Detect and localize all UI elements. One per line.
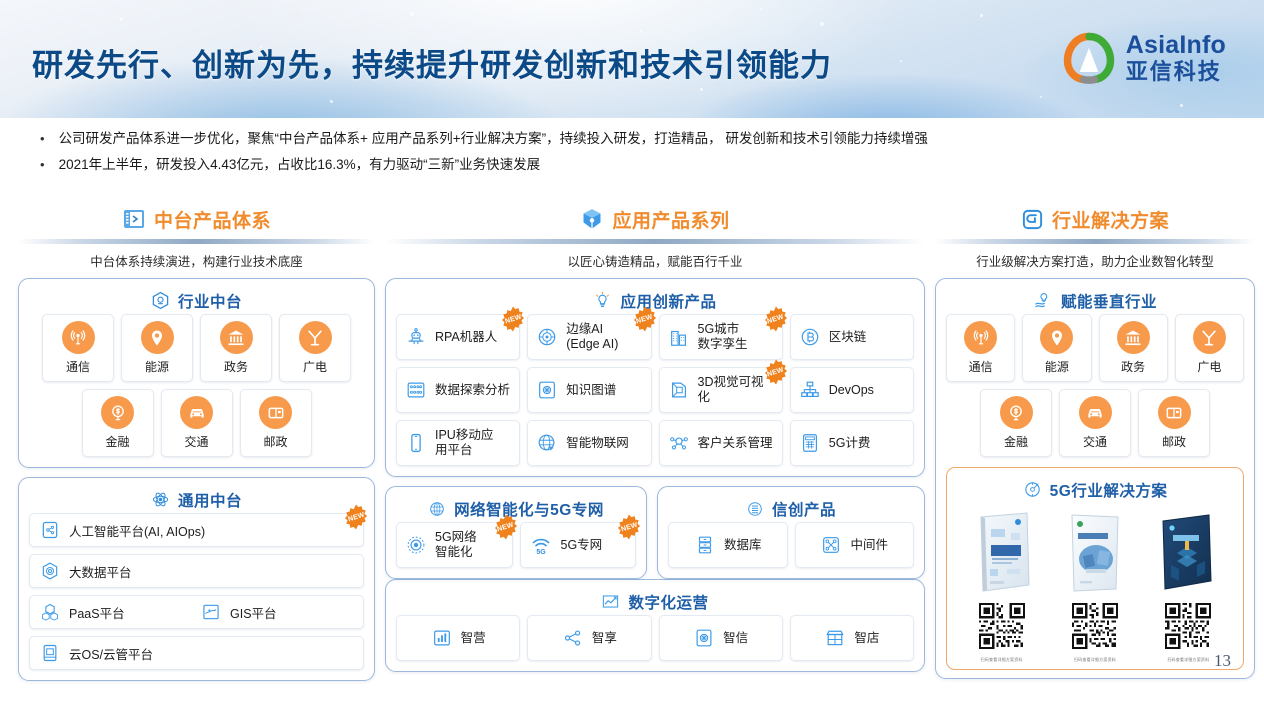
qr-caption: 扫码查看详细方案资料 <box>1056 657 1134 663</box>
card-5g-digital-twin[interactable]: 5G城市 数字孪生 NEW <box>659 314 783 360</box>
cube-icon <box>580 207 604 231</box>
column-middle-header: 应用产品系列 <box>385 205 925 233</box>
bar-chart-icon <box>431 627 453 649</box>
platform-label: GIS平台 <box>230 603 277 622</box>
vertical-tile-row-2: 金融 交通 邮政 <box>946 389 1244 457</box>
database-icon <box>694 534 716 556</box>
city-icon <box>668 326 690 348</box>
bullet-item: • 2021年上半年，研发投入4.43亿元，占收比16.3%，有力驱动“三新”业… <box>0 152 1264 178</box>
card-5g-billing[interactable]: 5G计费 <box>790 420 914 466</box>
card-knowledge-graph[interactable]: 知识图谱 <box>527 367 651 413</box>
tile-label: 通信 <box>969 358 993 375</box>
bullet-item: • 公司研发产品体系进一步优化，聚焦“中台产品体系+ 应用产品系列+行业解决方案… <box>0 126 1264 152</box>
tile-label: 能源 <box>145 358 169 375</box>
tile-telecom[interactable]: 通信 <box>946 314 1015 382</box>
ai-share-icon <box>40 520 60 540</box>
platform-label: 大数据平台 <box>69 562 132 581</box>
car-icon <box>180 396 213 429</box>
bullet-marker: • <box>40 155 45 175</box>
iot-globe-icon <box>536 432 558 454</box>
mailbox-icon <box>1158 396 1191 429</box>
brochure-1 <box>963 511 1041 595</box>
card-label: 智能物联网 <box>566 436 629 451</box>
card-zhixin[interactable]: 智信 <box>659 615 783 661</box>
bank-icon <box>220 321 253 354</box>
lightbulb-icon <box>593 291 612 310</box>
panel-xinchuang-header: 信创产品 <box>668 495 914 522</box>
platform-row-cloudos[interactable]: 云OS/云管平台 <box>29 636 364 670</box>
card-5g-private-network[interactable]: 5G 5G专网 NEW <box>520 522 637 568</box>
new-badge: NEW <box>500 306 526 332</box>
blockchain-icon <box>799 326 821 348</box>
card-edge-ai[interactable]: 边缘AI (Edge AI) NEW <box>527 314 651 360</box>
bullet-marker: • <box>40 129 45 149</box>
panel-innovation-products: 应用创新产品 RPA机器人 NEW <box>385 278 925 477</box>
column-right-header: 行业解决方案 <box>935 205 1255 233</box>
column-industry-solutions: 行业解决方案 行业级解决方案打造，助力企业数智化转型 赋能垂直行业 通信 <box>935 205 1255 679</box>
panel-industry-platform: 行业中台 通信 能源 政务 <box>18 278 375 468</box>
digital-grid: 智营 智享 智信 <box>396 615 914 661</box>
column-middle-subtitle: 以匠心铸造精品，赋能百行千业 <box>385 248 925 278</box>
car-icon <box>1079 396 1112 429</box>
location-pin-icon <box>141 321 174 354</box>
robot-icon <box>405 326 427 348</box>
column-middle-platform: 中台产品体系 中台体系持续演进，构建行业技术底座 行业中台 通信 <box>18 205 375 681</box>
globe-net-icon <box>428 500 446 518</box>
card-crm[interactable]: 客户关系管理 <box>659 420 783 466</box>
xinchuang-grid: 数据库 中间件 <box>668 522 914 568</box>
devops-icon <box>799 379 821 401</box>
bank-icon <box>1117 321 1150 354</box>
panel-5g-solutions: 5G行业解决方案 <box>946 467 1244 670</box>
empower-icon <box>1033 291 1053 311</box>
panel-digital-operations: 数字化运营 智营 智享 <box>385 579 925 672</box>
panel-industry-header: 行业中台 <box>29 287 364 314</box>
tile-telecom[interactable]: 通信 <box>42 314 114 382</box>
middleware-icon <box>820 534 842 556</box>
brochure-3 <box>1149 511 1227 595</box>
brochure-row <box>955 509 1235 595</box>
network-grid: 5G网络 智能化 NEW 5G 5G专网 NEW <box>396 522 636 568</box>
svg-text:5G: 5G <box>536 549 546 556</box>
qr-row: 扫码查看详细方案资料 扫码查看详细方案资料 <box>955 603 1235 663</box>
money-icon <box>1000 396 1033 429</box>
page-title: 研发先行、创新为先，持续提升研发创新和技术引领能力 <box>32 40 832 85</box>
platform-row-ai[interactable]: 人工智能平台(AI, AIOps) NEW <box>29 513 364 547</box>
tile-label: 通信 <box>66 358 90 375</box>
tile-postal[interactable]: 邮政 <box>1138 389 1210 457</box>
column-left-rule <box>18 239 375 244</box>
new-badge: NEW <box>763 306 789 332</box>
panel-network-title: 网络智能化与5G专网 <box>454 498 604 520</box>
signal-tower-icon <box>62 321 95 354</box>
5g-disc-icon <box>1023 480 1042 499</box>
card-ipu-mobile[interactable]: IPU移动应 用平台 <box>396 420 520 466</box>
mailbox-icon <box>259 396 292 429</box>
platform-row-bigdata[interactable]: 大数据平台 <box>29 554 364 588</box>
broadcast-icon <box>299 321 332 354</box>
vertical-tile-row-1: 通信 能源 政务 广电 <box>946 314 1244 382</box>
card-label: 智店 <box>854 631 879 646</box>
panel-5g-title: 5G行业解决方案 <box>1050 479 1168 501</box>
location-pin-icon <box>1040 321 1073 354</box>
platform-row-paas-gis[interactable]: PaaS平台 GIS平台 <box>29 595 364 629</box>
card-blockchain[interactable]: 区块链 <box>790 314 914 360</box>
tile-label: 邮政 <box>263 433 287 450</box>
card-data-exploration[interactable]: 数据探索分析 <box>396 367 520 413</box>
card-label: 5G计费 <box>829 436 871 451</box>
tile-finance[interactable]: 金融 <box>980 389 1052 457</box>
tile-label: 政务 <box>1121 358 1145 375</box>
card-label: 5G网络 智能化 <box>435 530 477 560</box>
new-badge: NEW <box>343 504 369 530</box>
asiainfo-logo-mark <box>1061 30 1117 86</box>
card-zhidian[interactable]: 智店 <box>790 615 914 661</box>
tile-postal[interactable]: 邮政 <box>240 389 312 457</box>
tile-label: 金融 <box>105 433 129 450</box>
cloud-os-icon <box>40 643 60 663</box>
gis-icon <box>201 602 221 622</box>
brochure-2 <box>1056 511 1134 595</box>
zhixin-icon <box>693 627 715 649</box>
card-label: 数据探索分析 <box>435 383 510 398</box>
tile-label: 能源 <box>1045 358 1069 375</box>
panel-5g-header: 5G行业解决方案 <box>955 476 1235 503</box>
panel-xinchuang-title: 信创产品 <box>772 498 836 520</box>
card-label: 边缘AI (Edge AI) <box>566 322 618 352</box>
card-iot[interactable]: 智能物联网 <box>527 420 651 466</box>
share-node-icon <box>562 627 584 649</box>
edge-ai-icon <box>536 326 558 348</box>
card-zhiying[interactable]: 智营 <box>396 615 520 661</box>
column-left-subtitle: 中台体系持续演进，构建行业技术底座 <box>18 248 375 278</box>
asiainfo-logo: AsiaInfo 亚信科技 <box>1061 30 1226 86</box>
card-label: 智信 <box>723 631 748 646</box>
tile-government[interactable]: 政务 <box>1099 314 1168 382</box>
qr-code-icon <box>979 603 1025 649</box>
industry-tile-row-1: 通信 能源 政务 广电 <box>29 314 364 382</box>
tile-energy[interactable]: 能源 <box>121 314 193 382</box>
card-label: RPA机器人 <box>435 330 497 345</box>
middle-dual-panels: 网络智能化与5G专网 5G网络 智能化 NEW <box>385 486 925 579</box>
card-label: IPU移动应 用平台 <box>435 428 493 458</box>
card-devops[interactable]: DevOps <box>790 367 914 413</box>
card-label: DevOps <box>829 383 874 398</box>
column-middle-title: 应用产品系列 <box>612 206 729 233</box>
logo-text-en: AsiaInfo <box>1126 33 1226 58</box>
bullet-text: 公司研发产品体系进一步优化，聚焦“中台产品体系+ 应用产品系列+行业解决方案”，… <box>59 129 928 149</box>
column-application-products: 应用产品系列 以匠心铸造精品，赋能百行千业 应用创新产品 <box>385 205 925 672</box>
panel-vertical-title: 赋能垂直行业 <box>1061 290 1157 312</box>
header-banner: 研发先行、创新为先，持续提升研发创新和技术引领能力 AsiaInfo 亚信科技 <box>0 0 1264 118</box>
middle-platform-icon <box>122 207 146 231</box>
tile-broadcast[interactable]: 广电 <box>1175 314 1244 382</box>
column-middle-rule <box>385 239 925 244</box>
data-explore-icon <box>405 379 427 401</box>
card-label: 区块链 <box>829 330 867 345</box>
qr-caption: 扫码查看详细方案资料 <box>963 657 1041 663</box>
column-right-rule <box>935 239 1255 244</box>
new-badge: NEW <box>493 514 519 540</box>
tile-energy[interactable]: 能源 <box>1022 314 1091 382</box>
tile-label: 交通 <box>184 433 208 450</box>
card-label: 智营 <box>461 631 486 646</box>
column-right-title: 行业解决方案 <box>1052 206 1169 233</box>
new-badge: NEW <box>632 306 658 332</box>
paas-icon <box>40 602 60 622</box>
bigdata-icon <box>40 561 60 581</box>
column-left-header: 中台产品体系 <box>18 205 375 233</box>
tile-label: 广电 <box>303 358 327 375</box>
panel-general-platform: 通用中台 人工智能平台(AI, AIOps) NEW 大数据平台 <box>18 477 375 681</box>
card-label: 5G专网 <box>561 538 603 553</box>
card-label: 客户关系管理 <box>698 436 773 451</box>
card-database[interactable]: 数据库 <box>668 522 788 568</box>
card-label: 数据库 <box>724 538 762 553</box>
column-left-title: 中台产品体系 <box>154 206 271 233</box>
new-badge: NEW <box>763 359 789 385</box>
billing-icon <box>799 432 821 454</box>
tile-transport[interactable]: 交通 <box>161 389 233 457</box>
panel-industry-title: 行业中台 <box>178 290 242 312</box>
panel-xinchuang: 信创产品 数据库 <box>657 486 925 579</box>
tile-transport[interactable]: 交通 <box>1059 389 1131 457</box>
crm-icon <box>668 432 690 454</box>
bullet-text: 2021年上半年，研发投入4.43亿元，占收比16.3%，有力驱动“三新”业务快… <box>59 155 541 175</box>
tile-label: 交通 <box>1083 433 1107 450</box>
qr-code-icon <box>1165 603 1211 649</box>
card-3d-visualization[interactable]: 3D视觉可视化 NEW <box>659 367 783 413</box>
qr-cell-2: 扫码查看详细方案资料 <box>1056 603 1134 663</box>
qr-code-icon <box>1072 603 1118 649</box>
3d-visual-icon <box>668 379 690 401</box>
tile-label: 金融 <box>1004 433 1028 450</box>
card-label: 5G城市 数字孪生 <box>698 322 748 352</box>
page-number: 13 <box>1214 651 1231 671</box>
network-radar-icon <box>405 534 427 556</box>
card-5g-network-intelligence[interactable]: 5G网络 智能化 NEW <box>396 522 513 568</box>
new-badge: NEW <box>616 514 642 540</box>
platform-label: 人工智能平台(AI, AIOps) <box>69 521 205 540</box>
tile-label: 广电 <box>1197 358 1221 375</box>
mobile-icon <box>405 432 427 454</box>
chart-line-icon <box>601 592 620 611</box>
panel-vertical-industry: 赋能垂直行业 通信 能源 政务 <box>935 278 1255 679</box>
industry-tile-row-2: 金融 交通 邮政 <box>29 389 364 457</box>
column-right-subtitle: 行业级解决方案打造，助力企业数智化转型 <box>935 248 1255 278</box>
panel-vertical-header: 赋能垂直行业 <box>946 287 1244 314</box>
stack-icon <box>746 500 764 518</box>
atom-icon <box>151 490 170 509</box>
panel-network-5g: 网络智能化与5G专网 5G网络 智能化 NEW <box>385 486 647 579</box>
platform-label: PaaS平台 <box>69 603 125 622</box>
platform-half-paas[interactable]: PaaS平台 <box>40 602 192 622</box>
card-rpa[interactable]: RPA机器人 NEW <box>396 314 520 360</box>
signal-tower-icon <box>964 321 997 354</box>
card-label: 中间件 <box>850 538 888 553</box>
qr-cell-1: 扫码查看详细方案资料 <box>963 603 1041 663</box>
innovation-grid: RPA机器人 NEW 边缘AI (Edge AI) NEW <box>396 314 914 466</box>
money-icon <box>101 396 134 429</box>
platform-label: 云OS/云管平台 <box>69 644 153 663</box>
solution-icon <box>1021 208 1044 231</box>
tile-label: 政务 <box>224 358 248 375</box>
tile-broadcast[interactable]: 广电 <box>279 314 351 382</box>
card-label: 智享 <box>592 631 617 646</box>
store-icon <box>824 627 846 649</box>
card-label: 知识图谱 <box>566 383 616 398</box>
tile-finance[interactable]: 金融 <box>82 389 154 457</box>
platform-half-gis[interactable]: GIS平台 <box>201 602 353 622</box>
knowledge-graph-icon <box>536 379 558 401</box>
tile-label: 邮政 <box>1162 433 1186 450</box>
panel-digital-title: 数字化运营 <box>628 591 708 613</box>
logo-text-cn: 亚信科技 <box>1126 61 1226 83</box>
broadcast-icon <box>1193 321 1226 354</box>
panel-general-header: 通用中台 <box>29 486 364 513</box>
card-zhixiang[interactable]: 智享 <box>527 615 651 661</box>
shield-hexagon-icon <box>151 291 170 310</box>
5g-wifi-icon: 5G <box>529 533 553 557</box>
panel-general-title: 通用中台 <box>178 489 242 511</box>
bullet-list: • 公司研发产品体系进一步优化，聚焦“中台产品体系+ 应用产品系列+行业解决方案… <box>0 126 1264 178</box>
card-middleware[interactable]: 中间件 <box>795 522 915 568</box>
panel-digital-header: 数字化运营 <box>396 588 914 615</box>
tile-government[interactable]: 政务 <box>200 314 272 382</box>
